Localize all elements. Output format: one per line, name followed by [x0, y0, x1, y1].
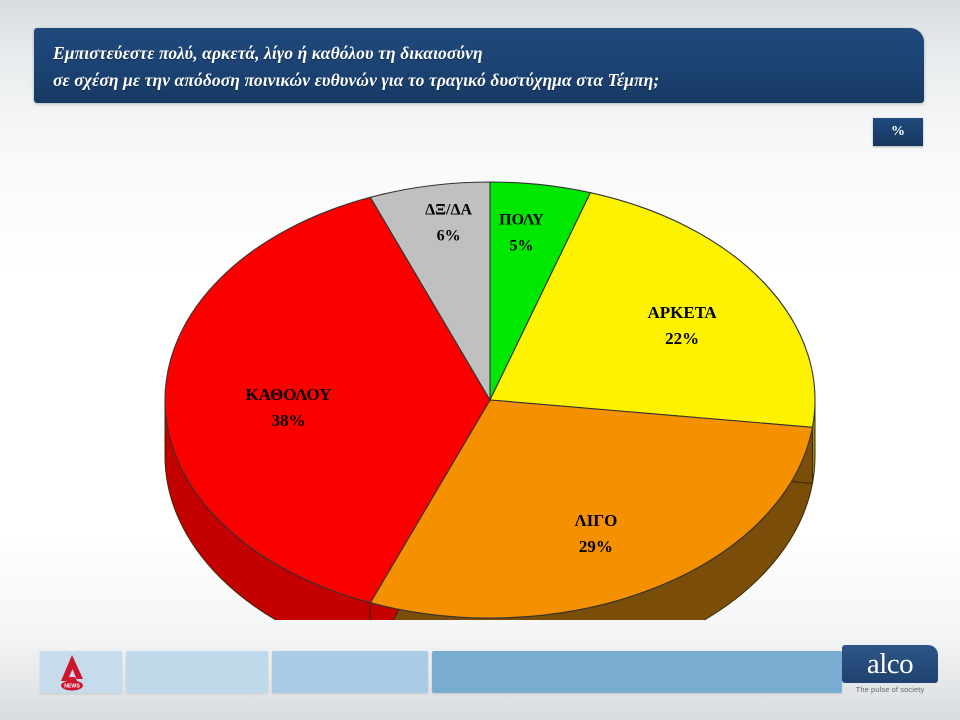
pie-chart: ΠΟΛΥ5%ΑΡΚΕΤΑ22%ΛΙΓΟ29%ΚΑΘΟΛΟΥ38%ΔΞ/ΔΑ6%	[110, 150, 870, 620]
alpha-news-logo: NEWS	[50, 652, 94, 692]
pie-label-name-ΑΡΚΕΤΑ: ΑΡΚΕΤΑ	[647, 303, 717, 322]
page-title-line-2: σε σχέση με την απόδοση ποινικών ευθυνών…	[53, 67, 908, 94]
alco-logo-word: alco	[842, 646, 938, 682]
pie-chart-svg: ΠΟΛΥ5%ΑΡΚΕΤΑ22%ΛΙΓΟ29%ΚΑΘΟΛΟΥ38%ΔΞ/ΔΑ6%	[110, 150, 870, 620]
page-title-line-1: Εμπιστεύεστε πολύ, αρκετά, λίγο ή καθόλο…	[53, 40, 908, 67]
alco-logo-tagline: The pulse of society	[842, 685, 938, 694]
alco-logo: alco The pulse of society	[842, 645, 938, 697]
alco-logo-box: alco	[842, 645, 938, 683]
alpha-news-badge-text: NEWS	[64, 684, 80, 690]
unit-badge: %	[873, 118, 923, 146]
page-title: Εμπιστεύεστε πολύ, αρκετά, λίγο ή καθόλο…	[53, 40, 908, 94]
pie-label-value-ΚΑΘΟΛΟΥ: 38%	[272, 411, 306, 430]
footer-segment-4	[432, 651, 842, 693]
slide-root: Εμπιστεύεστε πολύ, αρκετά, λίγο ή καθόλο…	[0, 0, 960, 720]
pie-label-name-ΚΑΘΟΛΟΥ: ΚΑΘΟΛΟΥ	[246, 385, 332, 404]
footer-segment-3	[272, 651, 428, 693]
footer-segment-2	[126, 651, 268, 693]
pie-label-value-ΔΞ/ΔΑ: 6%	[437, 227, 461, 244]
pie-label-value-ΠΟΛΥ: 5%	[510, 238, 534, 255]
pie-label-value-ΑΡΚΕΤΑ: 22%	[665, 329, 699, 348]
pie-label-name-ΔΞ/ΔΑ: ΔΞ/ΔΑ	[425, 201, 472, 218]
alpha-logo-icon: NEWS	[50, 652, 94, 692]
footer-bar	[40, 651, 920, 693]
pie-label-name-ΛΙΓΟ: ΛΙΓΟ	[574, 511, 617, 530]
pie-label-value-ΛΙΓΟ: 29%	[579, 537, 613, 556]
pie-label-name-ΠΟΛΥ: ΠΟΛΥ	[499, 212, 544, 229]
header-bar: Εμπιστεύεστε πολύ, αρκετά, λίγο ή καθόλο…	[34, 28, 924, 103]
